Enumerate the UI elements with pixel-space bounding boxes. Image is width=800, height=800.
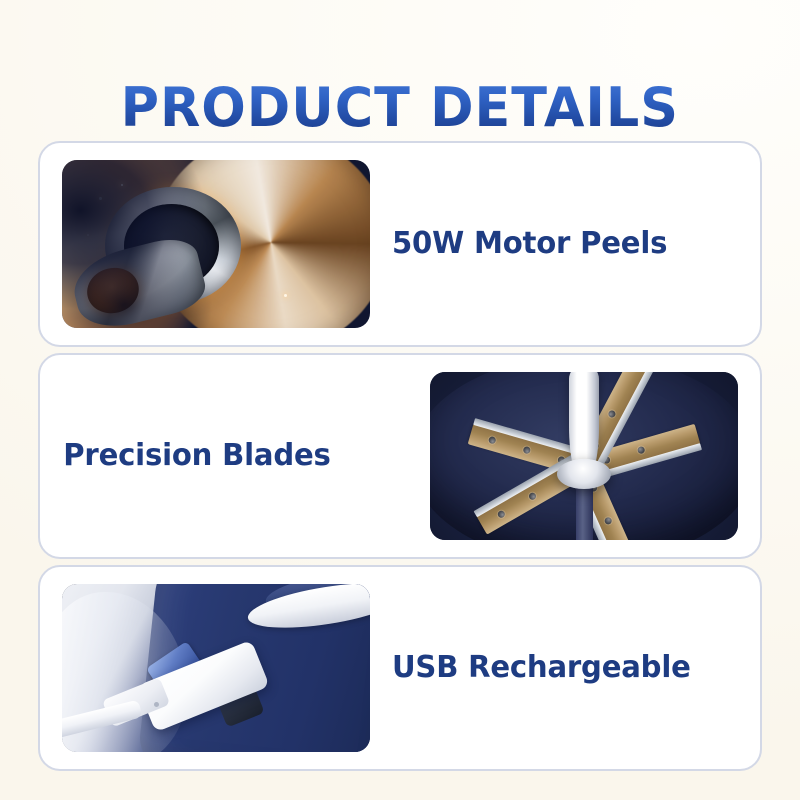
feature-label-usb: USB Rechargeable (392, 649, 749, 687)
blade-screw-shape (488, 436, 497, 445)
feature-label-motor: 50W Motor Peels (392, 225, 749, 263)
blade-screw-shape (607, 409, 616, 418)
usb-photo (62, 584, 370, 752)
feature-card-usb[interactable]: USB Rechargeable (38, 565, 762, 771)
page-title: PRODUCT DETAILS (121, 77, 679, 139)
motor-spark-shape (284, 294, 287, 297)
motor-core-shape (124, 204, 219, 288)
motor-barrel-shape (67, 233, 210, 328)
motor-bore-shape (82, 262, 144, 319)
motor-spark-shape (121, 184, 123, 186)
feature-image-blades (430, 372, 738, 540)
blade-screw-shape (522, 446, 531, 455)
motor-spark-shape (87, 234, 89, 236)
blade-screw-shape (528, 491, 538, 501)
feature-card-motor[interactable]: 50W Motor Peels (38, 141, 762, 347)
product-details-page: PRODUCT DETAILS 50W Motor Peels (0, 0, 800, 800)
blades-photo (430, 372, 738, 540)
feature-image-motor (62, 160, 370, 328)
motor-spark-shape (99, 197, 102, 200)
motor-hub-ring-shape (105, 187, 241, 305)
feature-label-blades: Precision Blades (40, 437, 397, 475)
blade-screw-shape (604, 516, 613, 525)
blade-edge-shape (474, 452, 580, 517)
motor-photo (62, 160, 370, 328)
blade-screw-shape (637, 446, 646, 455)
blade-screw-shape (497, 509, 507, 519)
feature-image-usb (62, 584, 370, 752)
motor-outer-disc-shape (154, 160, 370, 328)
feature-card-blades[interactable]: Precision Blades (38, 353, 762, 559)
